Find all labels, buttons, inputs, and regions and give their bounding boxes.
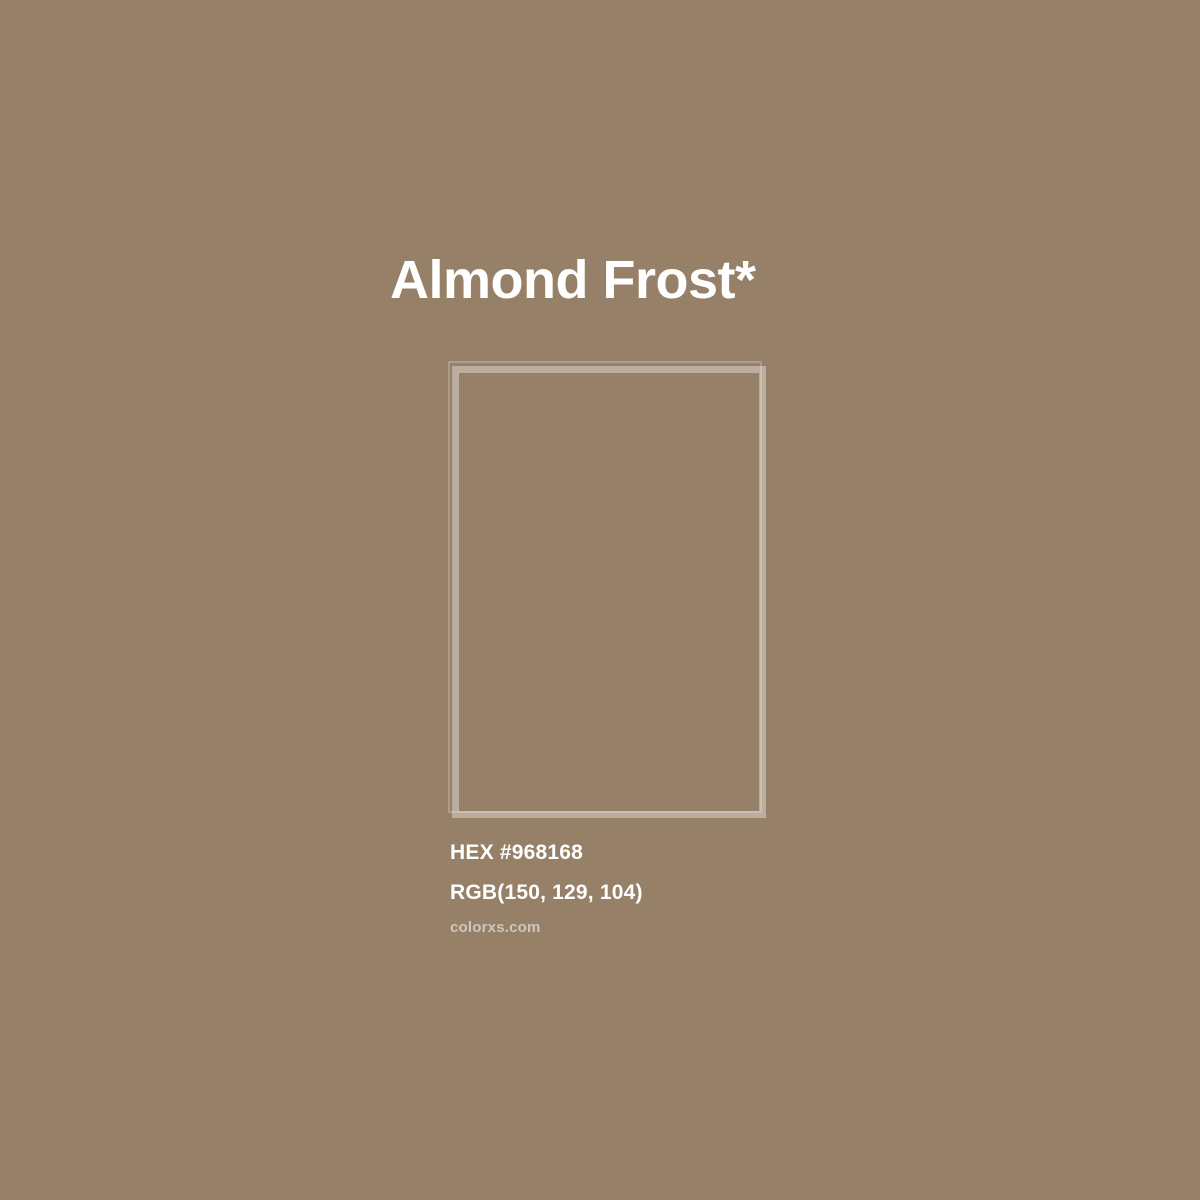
swatch-outer-frame	[448, 361, 762, 813]
rgb-value: RGB(150, 129, 104)	[450, 876, 950, 909]
color-name-title: Almond Frost*	[390, 248, 756, 312]
color-card: Almond Frost* HEX #968168 RGB(150, 129, …	[0, 0, 1200, 1200]
color-swatch	[440, 355, 770, 830]
hex-value: HEX #968168	[450, 836, 950, 869]
color-value-list: HEX #968168 RGB(150, 129, 104) colorxs.c…	[450, 836, 950, 938]
site-watermark: colorxs.com	[450, 909, 950, 938]
